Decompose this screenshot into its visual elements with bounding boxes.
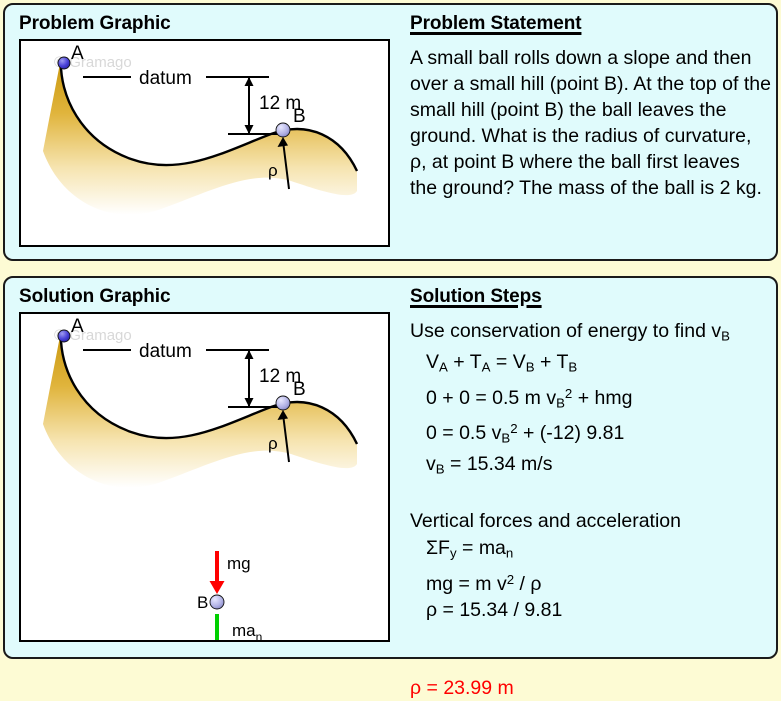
eq2-sub1: B	[556, 395, 565, 410]
eq6-sup1: 2	[507, 572, 514, 587]
eq4-part2: = 15.34 m/s	[445, 453, 553, 475]
eq4-sub1: B	[436, 461, 445, 476]
point-b-label: B	[293, 379, 306, 400]
step-heading-energy: Use conservation of energy to find vB	[410, 318, 775, 349]
equation-4: vB = 15.34 m/s	[410, 451, 775, 482]
solution-graphic-box: © Gramago datum 12 m ρ A B	[19, 312, 390, 642]
solution-panel: Solution Graphic	[3, 276, 778, 659]
rho-label: ρ	[268, 434, 278, 453]
problem-panel: Problem Graphic	[3, 3, 778, 261]
equation-5: ΣFy = man	[410, 535, 775, 566]
dimension-arrow-down	[245, 398, 254, 407]
terrain-fill	[43, 58, 357, 215]
problem-diagram: © Gramago datum 12 m ρ A	[21, 41, 388, 245]
eq3-part1: 0 = 0.5 v	[426, 422, 501, 444]
solution-steps-body: Use conservation of energy to find vB VA…	[410, 318, 775, 701]
dimension-arrow-down	[245, 125, 254, 134]
point-a-label: A	[71, 316, 84, 337]
terrain-fill	[43, 331, 357, 488]
point-a-label: A	[71, 43, 84, 64]
eq1-sub4: B	[568, 360, 577, 375]
eq2-part2: + hmg	[572, 387, 632, 409]
eq5-sub2: n	[506, 546, 513, 561]
step-heading-energy-text: Use conservation of energy to find v	[410, 320, 721, 342]
force-man-label: man	[232, 621, 262, 640]
dimension-arrow-up	[245, 77, 254, 86]
eq5-sub1: y	[450, 546, 457, 561]
page-root: Problem Graphic	[0, 0, 781, 662]
eq7-part1: ρ = 15.34 / 9.81	[426, 599, 562, 621]
final-answer: ρ = 23.99 m	[410, 675, 775, 701]
equation-1: VA + TA = VB + TB	[410, 349, 775, 380]
eq6-part1: mg = m v	[426, 573, 507, 595]
dimension-arrow-up	[245, 350, 254, 359]
force-man-subscript: n	[256, 630, 263, 640]
equation-6: mg = m v2 / ρ	[410, 567, 775, 597]
fbd-ball-b	[210, 595, 224, 609]
eq5-part1: ΣF	[426, 537, 450, 559]
eq1-sub1: A	[439, 360, 448, 375]
eq2-part1: 0 + 0 = 0.5 m v	[426, 387, 556, 409]
eq3-part2: + (-12) 9.81	[518, 422, 625, 444]
ball-a	[58, 57, 70, 69]
problem-graphic-title: Problem Graphic	[19, 13, 171, 35]
steps-spacer	[410, 482, 775, 508]
solution-steps-title: Solution Steps	[410, 286, 542, 308]
eq1-part3: = V	[491, 351, 526, 373]
answer-spacer	[410, 623, 775, 649]
solution-graphic-title: Solution Graphic	[19, 286, 170, 308]
eq1-part2: + T	[448, 351, 482, 373]
eq6-part2: / ρ	[514, 573, 541, 595]
force-mg-arrowhead	[210, 581, 225, 594]
step-heading-energy-sub: B	[721, 328, 730, 343]
force-mg-label: mg	[227, 554, 251, 573]
ball-b	[276, 123, 290, 137]
problem-graphic-box: © Gramago datum 12 m ρ A	[19, 39, 390, 247]
equation-7: ρ = 15.34 / 9.81	[410, 597, 775, 623]
eq3-sup1: 2	[510, 421, 517, 436]
problem-statement-text: A small ball rolls down a slope and then…	[410, 45, 772, 201]
eq1-part4: + T	[535, 351, 569, 373]
eq5-part2: = ma	[457, 537, 506, 559]
step-heading-forces: Vertical forces and acceleration	[410, 508, 775, 535]
point-b-label: B	[293, 106, 306, 127]
problem-statement-title: Problem Statement	[410, 13, 581, 35]
solution-diagram: © Gramago datum 12 m ρ A B	[21, 314, 388, 640]
datum-label: datum	[139, 68, 192, 89]
eq1-sub3: B	[526, 360, 535, 375]
rho-label: ρ	[268, 161, 278, 180]
eq1-part1: V	[426, 351, 439, 373]
eq3-sub1: B	[501, 430, 510, 445]
datum-label: datum	[139, 341, 192, 362]
eq4-part1: v	[426, 453, 436, 475]
equation-2: 0 + 0 = 0.5 m vB2 + hmg	[410, 381, 775, 416]
ball-b	[276, 396, 290, 410]
fbd-point-b-label: B	[197, 593, 208, 612]
force-man-base: ma	[232, 621, 256, 640]
eq1-sub2: A	[482, 360, 491, 375]
ball-a	[58, 330, 70, 342]
equation-3: 0 = 0.5 vB2 + (-12) 9.81	[410, 416, 775, 451]
